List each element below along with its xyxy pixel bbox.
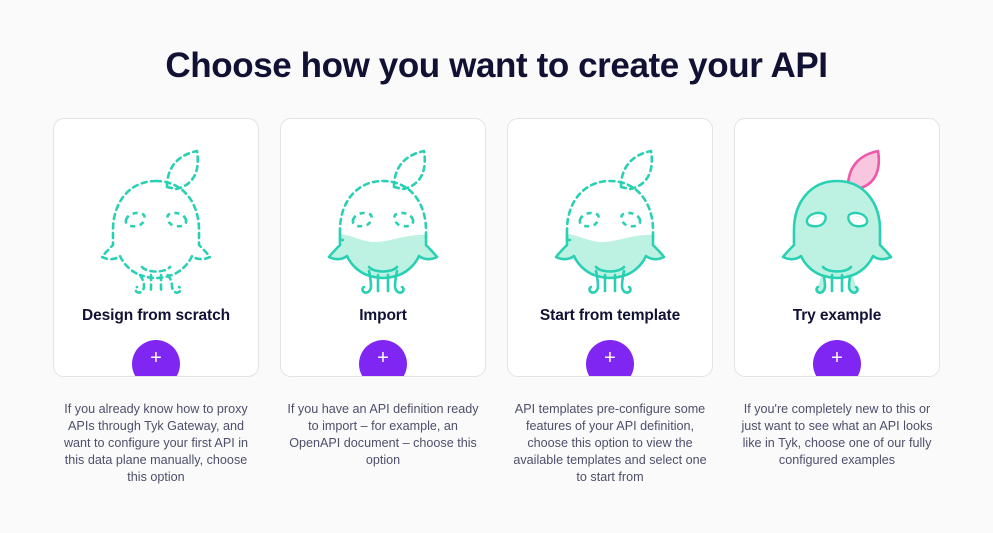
add-button-start-from-template[interactable]: +: [586, 340, 634, 377]
add-button-try-example[interactable]: +: [813, 340, 861, 377]
page-title: Choose how you want to create your API: [0, 0, 993, 88]
card-description: If you already know how to proxy APIs th…: [59, 401, 253, 486]
add-button-design-from-scratch[interactable]: +: [132, 340, 180, 377]
plus-icon: +: [604, 348, 616, 368]
card-title: Design from scratch: [82, 307, 230, 325]
mascot-full-color-icon: [777, 141, 897, 301]
card-description: If you're completely new to this or just…: [740, 401, 934, 469]
card-column-try-example: Try example + If you're completely new t…: [734, 118, 940, 486]
card-import[interactable]: Import +: [280, 118, 486, 377]
plus-icon: +: [831, 348, 843, 368]
api-creation-options: Design from scratch + If you already kno…: [0, 118, 993, 486]
add-button-import[interactable]: +: [359, 340, 407, 377]
card-try-example[interactable]: Try example +: [734, 118, 940, 377]
mascot-half-filled-icon: [550, 141, 670, 301]
card-start-from-template[interactable]: Start from template +: [507, 118, 713, 377]
plus-icon: +: [150, 348, 162, 368]
card-title: Start from template: [540, 307, 680, 325]
mascot-outline-dashed-icon: [96, 141, 216, 301]
mascot-half-filled-icon: [323, 141, 443, 301]
card-column-design-from-scratch: Design from scratch + If you already kno…: [53, 118, 259, 486]
card-description: If you have an API definition ready to i…: [286, 401, 480, 469]
card-title: Import: [359, 307, 407, 325]
card-column-start-from-template: Start from template + API templates pre-…: [507, 118, 713, 486]
create-api-page: Choose how you want to create your API: [0, 0, 993, 533]
plus-icon: +: [377, 348, 389, 368]
card-column-import: Import + If you have an API definition r…: [280, 118, 486, 486]
card-design-from-scratch[interactable]: Design from scratch +: [53, 118, 259, 377]
card-title: Try example: [793, 307, 882, 325]
card-description: API templates pre-configure some feature…: [513, 401, 707, 486]
